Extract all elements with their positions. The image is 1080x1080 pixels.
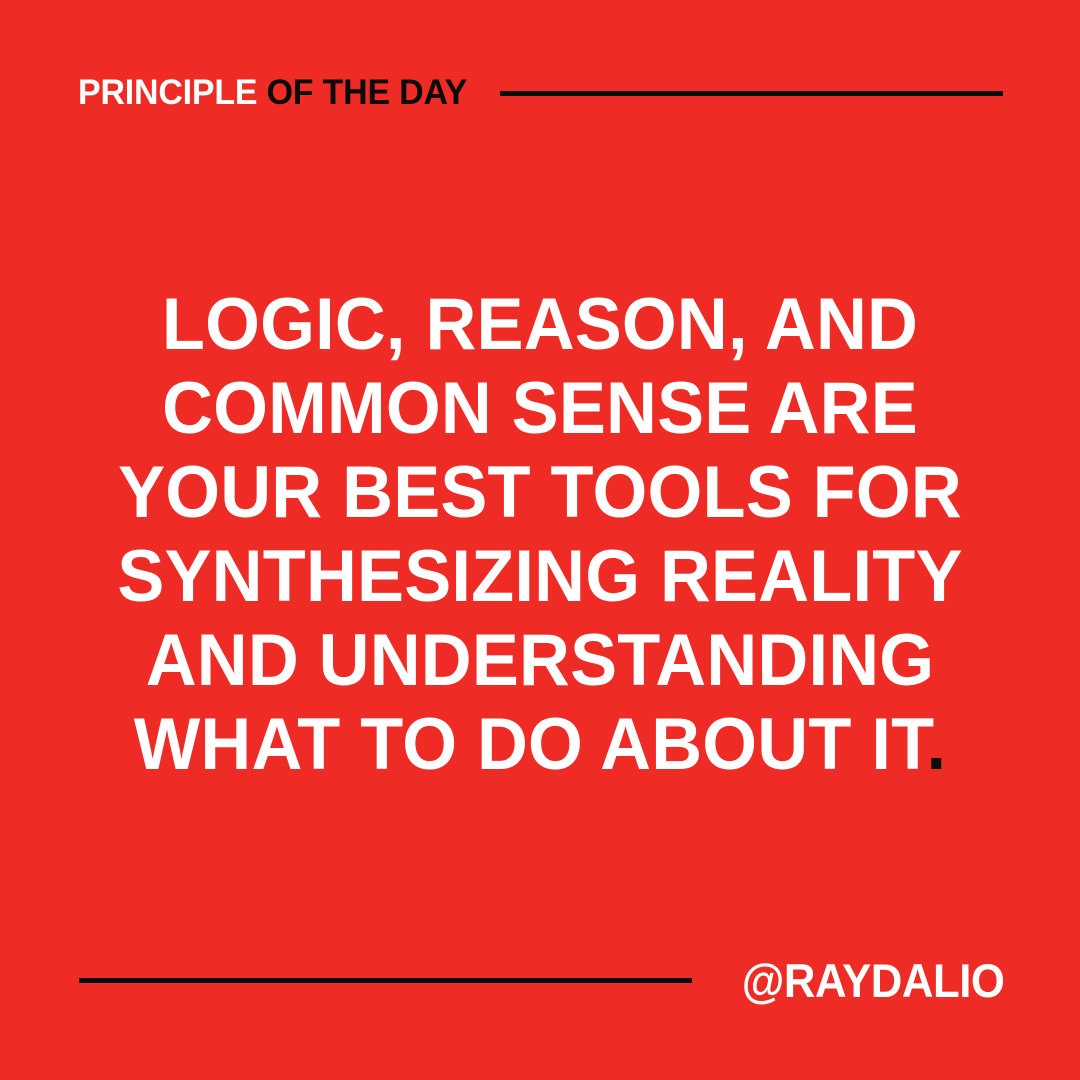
quote-line: SYNTHESIZING REALITY — [106, 535, 975, 619]
header-title-primary: PRINCIPLE — [78, 73, 257, 112]
quote-line-last: WHAT TO DO ABOUT IT. — [106, 703, 975, 787]
quote-terminal-period: . — [927, 704, 947, 785]
header: PRINCIPLE OF THE DAY — [78, 72, 1003, 112]
header-title: PRINCIPLE OF THE DAY — [78, 75, 467, 110]
footer: @RAYDALIO — [79, 957, 1004, 1003]
footer-rule — [79, 978, 692, 983]
quote-line-last-text: WHAT TO DO ABOUT IT — [134, 704, 927, 785]
quote-line: LOGIC, REASON, AND — [106, 283, 975, 367]
quote-text: LOGIC, REASON, AND COMMON SENSE ARE YOUR… — [90, 283, 990, 787]
quote-line: AND UNDERSTANDING — [106, 619, 975, 703]
quote-line: YOUR BEST TOOLS FOR — [106, 451, 975, 535]
header-title-secondary: OF THE DAY — [257, 73, 467, 112]
author-handle[interactable]: @RAYDALIO — [741, 957, 1004, 1004]
header-rule — [500, 91, 1003, 96]
principle-of-the-day-card: PRINCIPLE OF THE DAY LOGIC, REASON, AND … — [0, 0, 1080, 1080]
quote-line: COMMON SENSE ARE — [106, 367, 975, 451]
